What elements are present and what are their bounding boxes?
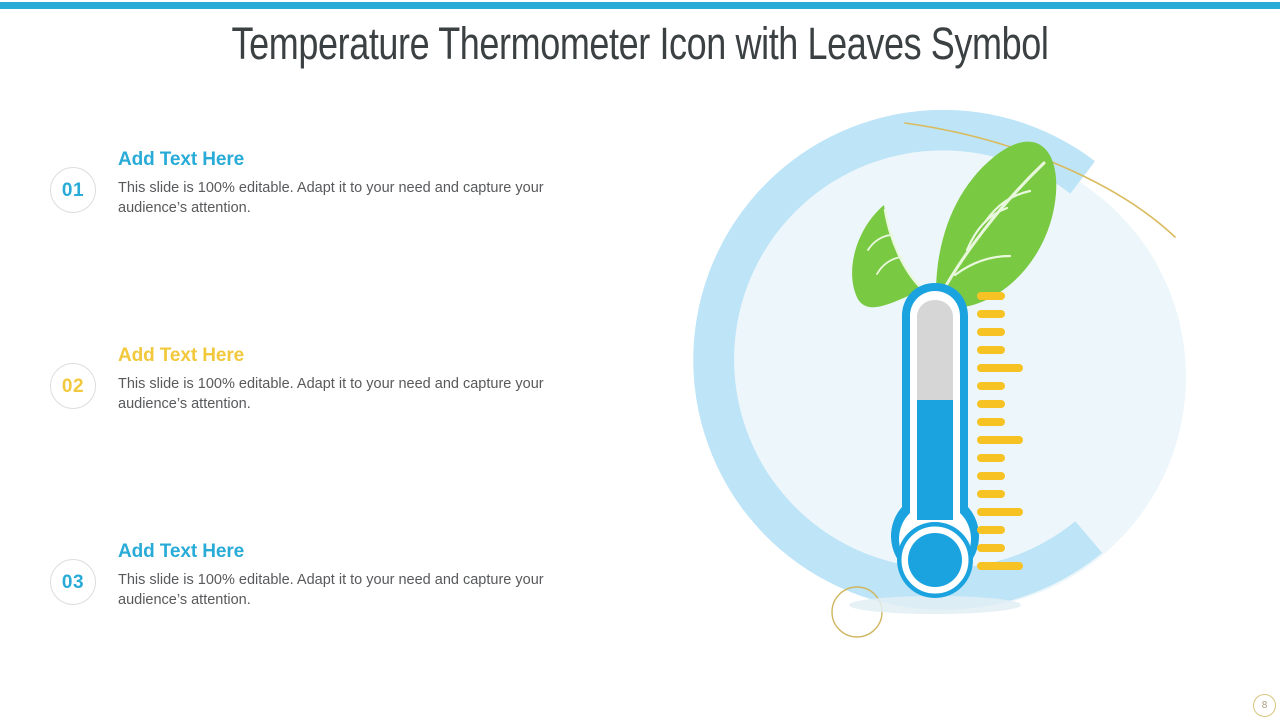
bullet-number-02: 02: [62, 377, 84, 396]
bullet-body-02: Add Text Here This slide is 100% editabl…: [118, 346, 638, 414]
tick-16-long: [977, 562, 1023, 570]
bullet-heading-02: Add Text Here: [118, 346, 638, 367]
bullet-list: 01 Add Text Here This slide is 100% edit…: [50, 150, 650, 720]
thermometer-body: [891, 283, 979, 598]
thermometer-with-leaves-illustration: [690, 95, 1260, 665]
bullet-text-03: This slide is 100% editable. Adapt it to…: [118, 570, 596, 610]
list-item[interactable]: 02 Add Text Here This slide is 100% edit…: [50, 346, 650, 542]
page-number: 8: [1262, 701, 1268, 711]
bullet-heading-01: Add Text Here: [118, 150, 638, 171]
tick-15: [977, 544, 1005, 552]
tick-9-long: [977, 436, 1023, 444]
thermometer-mercury-fill: [917, 400, 953, 520]
thermometer-bulb-core: [908, 533, 962, 587]
tick-5-long: [977, 364, 1023, 372]
tick-7: [977, 400, 1005, 408]
bullet-number-circle-02: 02: [50, 363, 96, 409]
bullet-number-01: 01: [62, 181, 84, 200]
tick-11: [977, 472, 1005, 480]
bullet-heading-03: Add Text Here: [118, 542, 638, 563]
tick-1: [977, 292, 1005, 300]
tick-12: [977, 490, 1005, 498]
page-title: Temperature Thermometer Icon with Leaves…: [128, 18, 1152, 70]
top-accent-bar: [0, 2, 1280, 9]
bullet-body-01: Add Text Here This slide is 100% editabl…: [118, 150, 638, 218]
bullet-number-circle-03: 03: [50, 559, 96, 605]
tick-13-long: [977, 508, 1023, 516]
bullet-body-03: Add Text Here This slide is 100% editabl…: [118, 542, 638, 610]
tick-6: [977, 382, 1005, 390]
tick-10: [977, 454, 1005, 462]
page-number-badge: 8: [1253, 694, 1276, 717]
tick-4: [977, 346, 1005, 354]
bullet-text-02: This slide is 100% editable. Adapt it to…: [118, 374, 596, 414]
tick-14: [977, 526, 1005, 534]
tick-3: [977, 328, 1005, 336]
list-item[interactable]: 03 Add Text Here This slide is 100% edit…: [50, 542, 650, 720]
bullet-number-circle-01: 01: [50, 167, 96, 213]
bullet-text-01: This slide is 100% editable. Adapt it to…: [118, 178, 596, 218]
bulb-shadow: [849, 596, 1021, 614]
bullet-number-03: 03: [62, 573, 84, 592]
slide-root: Temperature Thermometer Icon with Leaves…: [0, 0, 1280, 720]
tick-8: [977, 418, 1005, 426]
tick-2: [977, 310, 1005, 318]
list-item[interactable]: 01 Add Text Here This slide is 100% edit…: [50, 150, 650, 346]
